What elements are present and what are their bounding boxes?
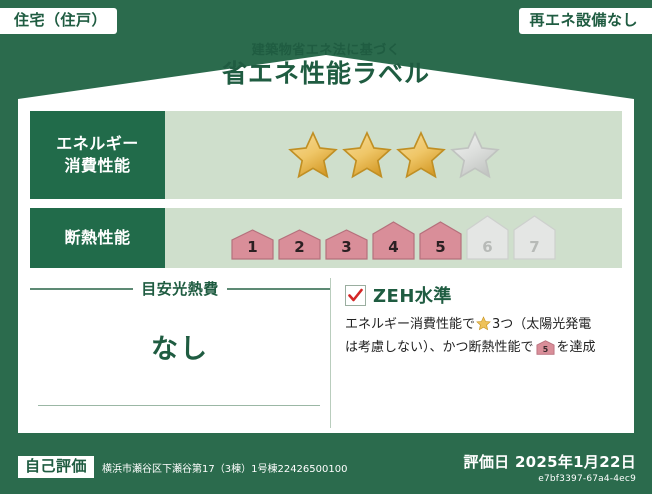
- zeh-desc-part1: エネルギー消費性能で: [345, 317, 475, 332]
- svg-text:2: 2: [294, 238, 304, 256]
- insulation-grade-6: 6: [465, 215, 510, 261]
- insulation-grade-5: 5: [418, 221, 463, 261]
- zeh-title: ZEH水準: [373, 282, 452, 308]
- page-title: 省エネ性能ラベル: [0, 60, 652, 89]
- energy-label-line2: 消費性能: [64, 155, 130, 177]
- insulation-grade-7: 7: [512, 215, 557, 261]
- house-grade-icon: 5: [536, 340, 555, 362]
- zeh-desc-part2: 3つ（太陽光発電: [492, 317, 591, 332]
- footer-left: 自己評価 横浜市瀬谷区下瀬谷第17（3棟）1号棟22426500100: [0, 456, 347, 478]
- property-address: 横浜市瀬谷区下瀬谷第17（3棟）1号棟22426500100: [102, 460, 347, 475]
- svg-text:6: 6: [482, 238, 492, 256]
- insulation-performance-label: 断熱性能: [30, 208, 165, 268]
- renewable-energy-tag: 再エネ設備なし: [519, 8, 652, 34]
- zeh-block: ZEH水準 エネルギー消費性能で3つ（太陽光発電 は考慮しない）、かつ断熱性能で…: [330, 278, 622, 428]
- utility-cost-block: 目安光熱費 なし: [30, 278, 330, 428]
- footer-right: 評価日 2025年1月22日 e7bf3397-67a4-4ec9: [464, 451, 652, 484]
- star-icon: [476, 316, 491, 338]
- footer-bar: 自己評価 横浜市瀬谷区下瀬谷第17（3棟）1号棟22426500100 評価日 …: [0, 440, 652, 494]
- building-type-tag: 住宅（住戸）: [0, 8, 117, 34]
- svg-text:1: 1: [247, 238, 257, 256]
- zeh-title-row: ZEH水準: [345, 282, 622, 308]
- utility-cost-heading-text: 目安光熱費: [141, 278, 219, 299]
- svg-text:5: 5: [435, 238, 445, 256]
- lower-section: 目安光熱費 なし ZEH水準 エネルギー消費性能で3つ（太陽光発電: [30, 278, 622, 428]
- insulation-grade-1: 1: [230, 229, 275, 261]
- label-title-block: 建築物省エネ法に基づく 省エネ性能ラベル: [0, 44, 652, 89]
- insulation-label-line1: 断熱性能: [64, 227, 130, 249]
- insulation-performance-row: 断熱性能 1234567: [30, 208, 622, 268]
- card-body: エネルギー 消費性能 断熱性能 1234567 目安光熱費: [18, 99, 634, 433]
- energy-performance-value: [165, 111, 622, 199]
- zeh-desc-line2-part2: を達成: [557, 340, 596, 355]
- energy-label-line1: エネルギー: [56, 133, 139, 155]
- svg-text:5: 5: [542, 345, 547, 354]
- insulation-grade-scale: 1234567: [230, 215, 557, 261]
- star-rating: [287, 130, 501, 180]
- label-uuid: e7bf3397-67a4-4ec9: [464, 474, 636, 484]
- self-evaluation-badge: 自己評価: [18, 456, 94, 478]
- insulation-performance-value: 1234567: [165, 208, 622, 268]
- zeh-description: エネルギー消費性能で3つ（太陽光発電 は考慮しない）、かつ断熱性能で5を達成: [345, 315, 622, 362]
- insulation-grade-4: 4: [371, 221, 416, 261]
- star-icon-empty: [449, 130, 501, 180]
- label-card: エネルギー 消費性能 断熱性能 1234567 目安光熱費: [18, 55, 634, 433]
- svg-text:3: 3: [341, 238, 351, 256]
- evaluation-date: 評価日 2025年1月22日: [464, 451, 636, 472]
- heading-rule-right: [227, 288, 330, 290]
- svg-text:4: 4: [388, 238, 398, 256]
- check-icon: [345, 285, 366, 306]
- insulation-grade-2: 2: [277, 229, 322, 261]
- heading-rule-left: [30, 288, 133, 290]
- insulation-grade-3: 3: [324, 229, 369, 261]
- utility-cost-value: なし: [30, 327, 330, 366]
- star-icon-filled: [287, 130, 339, 180]
- star-icon-filled: [395, 130, 447, 180]
- svg-text:7: 7: [529, 238, 539, 256]
- utility-cost-divider: [38, 405, 320, 406]
- star-icon-filled: [341, 130, 393, 180]
- zeh-desc-line2-part1: は考慮しない）、かつ断熱性能で: [345, 340, 534, 355]
- energy-performance-label: エネルギー 消費性能: [30, 111, 165, 199]
- energy-performance-row: エネルギー 消費性能: [30, 111, 622, 199]
- utility-cost-heading: 目安光熱費: [30, 278, 330, 299]
- title-subtitle: 建築物省エネ法に基づく: [0, 44, 652, 58]
